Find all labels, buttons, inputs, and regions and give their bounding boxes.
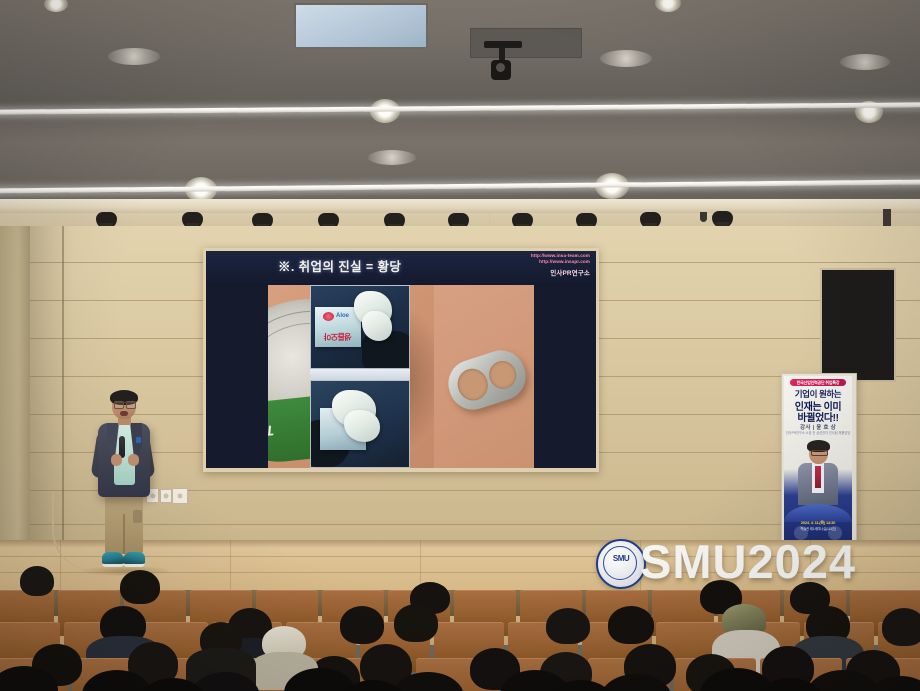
banner-badge-label: 한국산업인력공단 취업특강 [790,379,846,386]
wall-outlet[interactable] [160,489,172,503]
presenter-cargo-pocket [133,510,142,523]
tissue-photo-stack: Aloe 생롭오야 [310,285,410,468]
slide-organization-label: 인사PR연구소 [550,268,590,277]
audience-head [882,608,920,646]
banner-event-venue: 학술관 제1세미나실(113호) [784,526,852,531]
recessed-downlight [600,50,652,67]
presenter-glasses-bridge [114,402,134,408]
presenter-left-hand [111,454,122,466]
slide-title: ※. 취업의 진실 = 황당 [278,256,401,275]
wall-switch-plate[interactable] [172,488,188,504]
portrait-necktie [815,466,821,488]
recessed-downlight [368,150,416,165]
presenter-right-hand [128,454,139,466]
tissue-photo-bottom [310,380,410,468]
left-wall-pillar [0,226,30,550]
projector-lens [496,63,505,72]
banner-headline-line3: 바뀔었다!! [784,409,852,424]
banner-speaker-credentials: 인사PR연구소 소장 전 삼성전자 인사팀 채용담당 [784,431,852,436]
photo-separator-band [310,369,410,380]
presenter-leg-seam [123,514,125,554]
photo-border [310,285,410,369]
audience-head [608,606,654,644]
presenter-lapel-badge [136,437,141,443]
audience-head [20,566,54,596]
presenter [88,392,158,574]
recessed-downlight [108,48,160,65]
ceiling-pendant [700,212,707,222]
event-banner: 한국산업인력공단 취업특강 기업이 원하는 인재는 이미 바뀔었다!! 강사 |… [784,376,852,542]
banner-speaker-portrait [796,442,840,504]
slide-url-text: http://www.insa-team.com http://www.insa… [531,253,590,265]
ceiling-skylight-panel [294,3,428,49]
audience-head [394,604,438,642]
stage-cornice [0,199,920,213]
can-brand-text: Tuna [268,422,275,441]
projection-screen: ※. 취업의 진실 = 황당 http://www.insa-team.com … [206,251,596,468]
pull-tab-ring [442,344,532,416]
audience-head [120,570,160,604]
slide-url-line2: http://www.insapr.com [531,259,590,265]
audience-head [340,606,384,644]
ceiling-middle-plane [0,110,920,190]
audience-head [546,608,590,644]
tissue-photo-top: Aloe 생롭오야 [310,285,410,369]
portrait-glasses [811,450,828,456]
banner-badge: 한국산업인력공단 취업특강 [790,379,846,386]
slide-image-group: Tuna Aloe 생롭오야 [268,285,534,468]
photo-border [310,380,410,468]
pull-tab-photo [434,285,534,468]
presenter-mouth [120,411,128,416]
audience-area [0,560,920,691]
banner-speaker-label: 강사 | 윤 호 상 [784,423,852,431]
dark-wall-panel [820,268,896,382]
recessed-downlight [840,54,890,70]
auditorium-photo: ※. 취업의 진실 = 황당 http://www.insa-team.com … [0,0,920,691]
